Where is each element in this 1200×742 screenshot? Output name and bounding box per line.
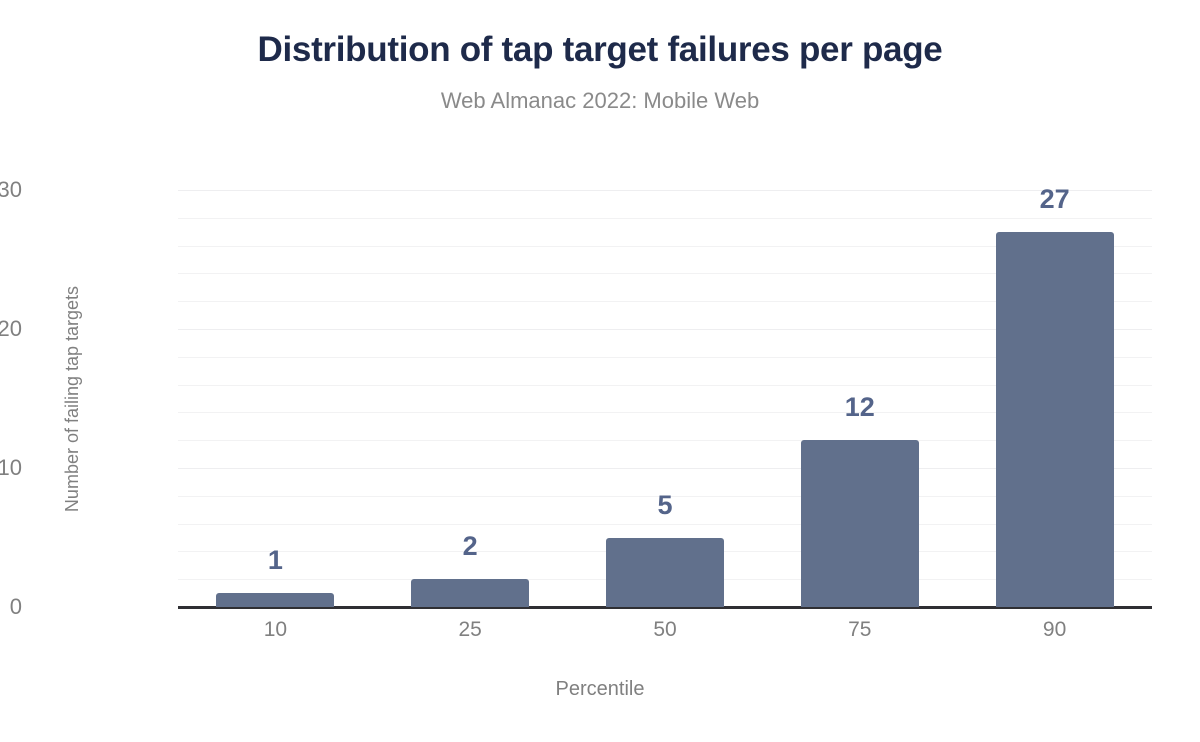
x-tick-label: 10 <box>264 618 287 642</box>
x-axis-title: Percentile <box>0 678 1200 701</box>
y-tick-label: 30 <box>0 177 22 203</box>
chart-canvas: Distribution of tap target failures per … <box>0 0 1200 742</box>
y-tick-label: 0 <box>0 594 22 620</box>
bar[interactable] <box>801 440 919 607</box>
bar-value-label: 5 <box>657 490 672 521</box>
bar[interactable] <box>216 593 334 607</box>
x-tick-label: 25 <box>459 618 482 642</box>
bar-value-label: 27 <box>1040 184 1070 215</box>
y-tick-label: 10 <box>0 455 22 481</box>
bar[interactable] <box>996 232 1114 607</box>
bar[interactable] <box>411 579 529 607</box>
bar-value-label: 12 <box>845 392 875 423</box>
y-axis-title: Number of failing tap targets <box>62 285 83 511</box>
bar-value-label: 1 <box>268 545 283 576</box>
y-tick-label: 20 <box>0 316 22 342</box>
chart-subtitle: Web Almanac 2022: Mobile Web <box>0 88 1200 114</box>
x-tick-label: 50 <box>653 618 676 642</box>
bar-value-label: 2 <box>463 531 478 562</box>
x-tick-label: 90 <box>1043 618 1066 642</box>
x-tick-label: 75 <box>848 618 871 642</box>
gridline <box>178 190 1152 191</box>
gridline <box>178 218 1152 219</box>
chart-title: Distribution of tap target failures per … <box>0 30 1200 70</box>
bar[interactable] <box>606 538 724 608</box>
